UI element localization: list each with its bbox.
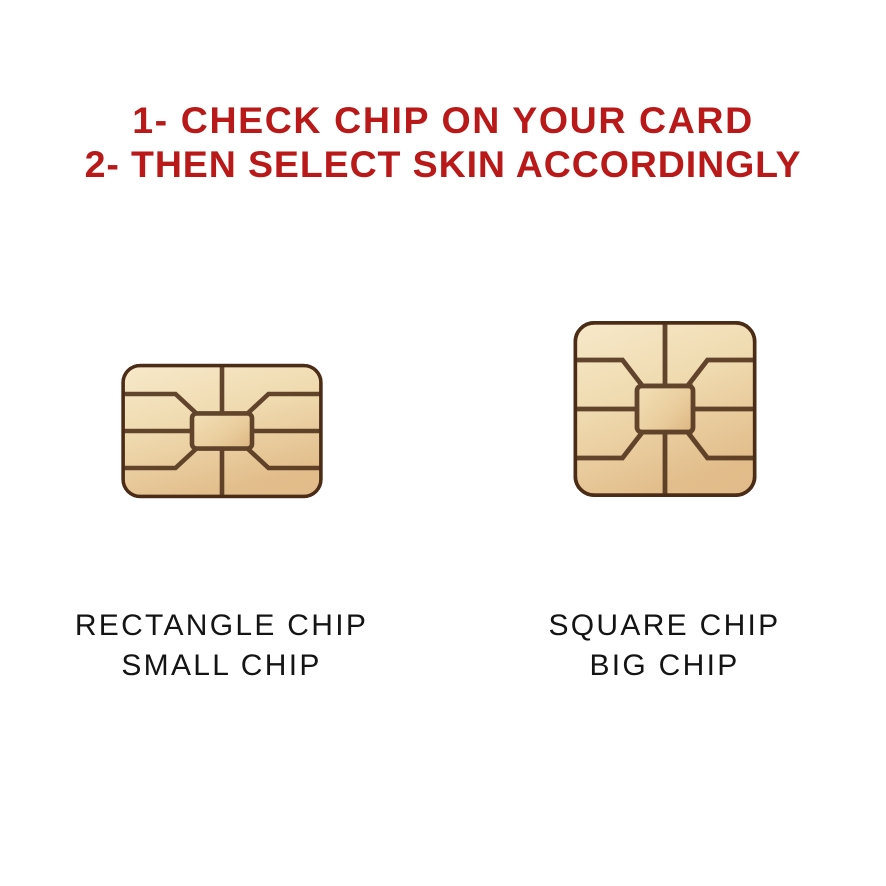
headline-step-2: 2- THEN SELECT SKIN ACCORDINGLY xyxy=(0,142,886,186)
rectangle-chip-graphic xyxy=(120,363,323,499)
rectangle-chip-label-line2: SMALL CHIP xyxy=(0,646,443,686)
rectangle-chip-label: RECTANGLE CHIP SMALL CHIP xyxy=(0,606,443,685)
rectangle-chip-label-line1: RECTANGLE CHIP xyxy=(0,606,443,646)
square-chip-label: SQUARE CHIP BIG CHIP xyxy=(443,606,886,685)
emv-chip-icon xyxy=(572,320,757,498)
chip-comparison-row xyxy=(0,300,886,510)
chip-option-rectangle[interactable] xyxy=(0,300,443,510)
square-chip-label-line2: BIG CHIP xyxy=(443,646,886,686)
emv-chip-icon xyxy=(120,363,323,499)
chip-labels-row: RECTANGLE CHIP SMALL CHIP SQUARE CHIP BI… xyxy=(0,606,886,716)
square-chip-label-line1: SQUARE CHIP xyxy=(443,606,886,646)
chip-option-square[interactable] xyxy=(443,300,886,510)
headline-step-1: 1- CHECK CHIP ON YOUR CARD xyxy=(0,98,886,142)
headline: 1- CHECK CHIP ON YOUR CARD 2- THEN SELEC… xyxy=(0,98,886,187)
square-chip-graphic xyxy=(572,320,757,498)
instruction-graphic: 1- CHECK CHIP ON YOUR CARD 2- THEN SELEC… xyxy=(0,0,886,886)
